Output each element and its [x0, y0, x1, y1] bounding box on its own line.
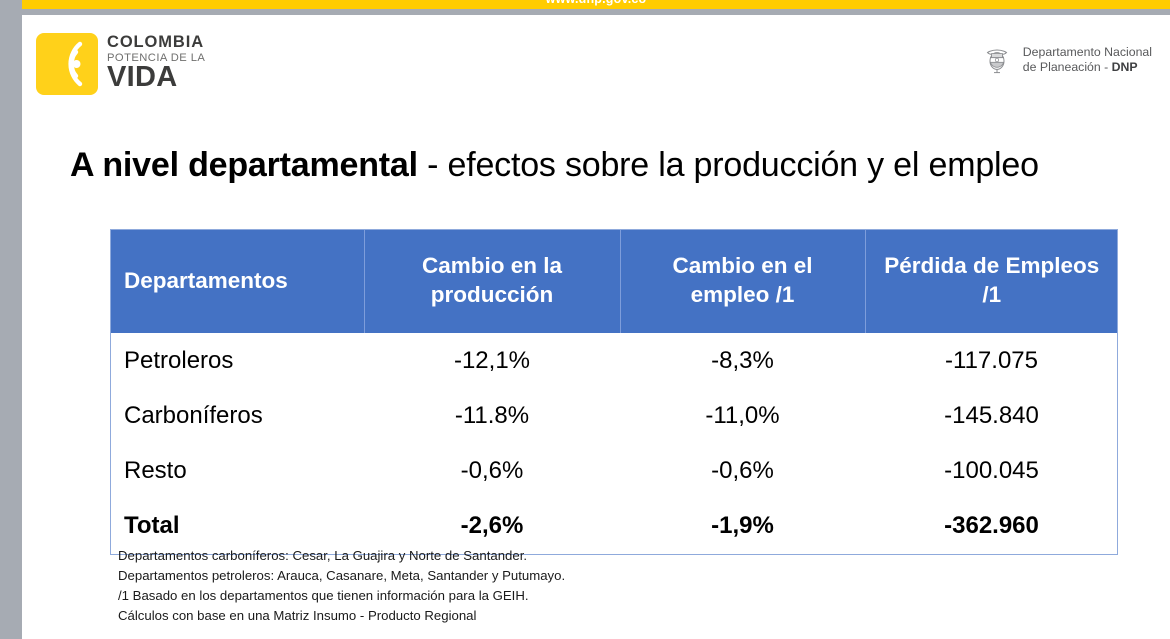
- footnote-line: Departamentos petroleros: Arauca, Casana…: [118, 566, 1018, 586]
- brand-line-vida: VIDA: [107, 63, 205, 92]
- cell-cambio-produccion: -12,1%: [364, 333, 620, 388]
- website-url-label: www.dnp.gov.co: [22, 0, 1170, 6]
- table-row: Carboníferos -11.8% -11,0% -145.840: [110, 388, 1118, 443]
- cell-cambio-produccion: -0,6%: [364, 443, 620, 498]
- footnote-line: Cálculos con base en una Matriz Insumo -…: [118, 606, 1018, 626]
- dnp-logo-text: Departamento Nacional de Planeación - DN…: [1023, 45, 1152, 76]
- brand-line-colombia: COLOMBIA: [107, 34, 205, 51]
- dnp-logo: Departamento Nacional de Planeación - DN…: [980, 43, 1152, 77]
- column-header-perdida-empleos: Pérdida de Empleos /1: [865, 229, 1118, 333]
- column-header-cambio-empleo: Cambio en el empleo /1: [620, 229, 865, 333]
- cell-cambio-produccion: -11.8%: [364, 388, 620, 443]
- departmental-effects-table-container: Departamentos Cambio en la producción Ca…: [110, 229, 1118, 553]
- cell-departamento: Resto: [110, 443, 364, 498]
- cell-perdida-empleos: -117.075: [865, 333, 1118, 388]
- dnp-acronym: DNP: [1112, 60, 1138, 74]
- column-header-departamentos: Departamentos: [110, 229, 364, 333]
- colombia-brand-logo: COLOMBIA POTENCIA DE LA VIDA: [36, 33, 205, 95]
- table-row: Petroleros -12,1% -8,3% -117.075: [110, 333, 1118, 388]
- footnotes: Departamentos carboníferos: Cesar, La Gu…: [118, 546, 1018, 626]
- table-header-row: Departamentos Cambio en la producción Ca…: [110, 229, 1118, 333]
- dnp-text-line-1: Departamento Nacional: [1023, 45, 1152, 60]
- cell-cambio-empleo: -0,6%: [620, 443, 865, 498]
- cell-cambio-produccion: -2,6%: [364, 498, 620, 553]
- table-body: Petroleros -12,1% -8,3% -117.075 Carboní…: [110, 333, 1118, 553]
- page-title-emphasis: A nivel departamental: [70, 146, 418, 184]
- cell-perdida-empleos: -362.960: [865, 498, 1118, 553]
- departmental-effects-table: Departamentos Cambio en la producción Ca…: [110, 229, 1118, 553]
- cell-perdida-empleos: -145.840: [865, 388, 1118, 443]
- cell-departamento: Carboníferos: [110, 388, 364, 443]
- table-row-total: Total -2,6% -1,9% -362.960: [110, 498, 1118, 553]
- cell-cambio-empleo: -8,3%: [620, 333, 865, 388]
- footnote-line: /1 Basado en los departamentos que tiene…: [118, 586, 1018, 606]
- slide-viewport: COLOMBIA POTENCIA DE LA VIDA: [0, 0, 1170, 639]
- page-title: A nivel departamental - efectos sobre la…: [70, 146, 1110, 185]
- cell-departamento: Petroleros: [110, 333, 364, 388]
- table-row: Resto -0,6% -0,6% -100.045: [110, 443, 1118, 498]
- footnote-line: Departamentos carboníferos: Cesar, La Gu…: [118, 546, 1018, 566]
- column-header-cambio-produccion: Cambio en la producción: [364, 229, 620, 333]
- signal-waves-icon: [36, 33, 98, 95]
- table-header: Departamentos Cambio en la producción Ca…: [110, 229, 1118, 333]
- slide-header: COLOMBIA POTENCIA DE LA VIDA: [22, 15, 1170, 105]
- cell-departamento: Total: [110, 498, 364, 553]
- dnp-text-line-2: de Planeación - DNP: [1023, 60, 1152, 75]
- cell-perdida-empleos: -100.045: [865, 443, 1118, 498]
- brand-wordmark: COLOMBIA POTENCIA DE LA VIDA: [107, 34, 205, 94]
- page-title-remainder: - efectos sobre la producción y el emple…: [418, 146, 1039, 184]
- slide-canvas: COLOMBIA POTENCIA DE LA VIDA: [22, 15, 1170, 639]
- top-url-bar: www.dnp.gov.co: [22, 0, 1170, 9]
- colombia-coat-of-arms-icon: [980, 43, 1014, 77]
- cell-cambio-empleo: -1,9%: [620, 498, 865, 553]
- cell-cambio-empleo: -11,0%: [620, 388, 865, 443]
- top-gray-strip: [22, 9, 1170, 15]
- dnp-text-line-2-prefix: de Planeación -: [1023, 60, 1112, 74]
